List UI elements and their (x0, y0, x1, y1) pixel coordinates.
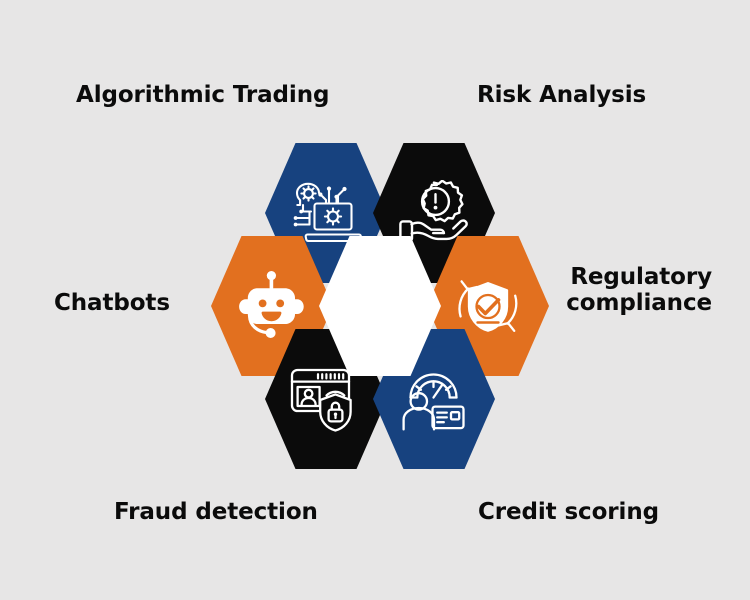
label-fraud-detection: Fraud detection (114, 499, 318, 525)
label-regulatory-compliance: Regulatory compliance (488, 264, 712, 317)
ai-head-gear-laptop-icon (289, 182, 363, 244)
label-chatbots: Chatbots (54, 290, 170, 316)
diagram-canvas: Algorithmic Trading Risk Analysis Chatbo… (0, 0, 750, 600)
label-algorithmic-trading: Algorithmic Trading (76, 82, 329, 108)
label-risk-analysis: Risk Analysis (477, 82, 646, 108)
label-credit-scoring: Credit scoring (478, 499, 659, 525)
